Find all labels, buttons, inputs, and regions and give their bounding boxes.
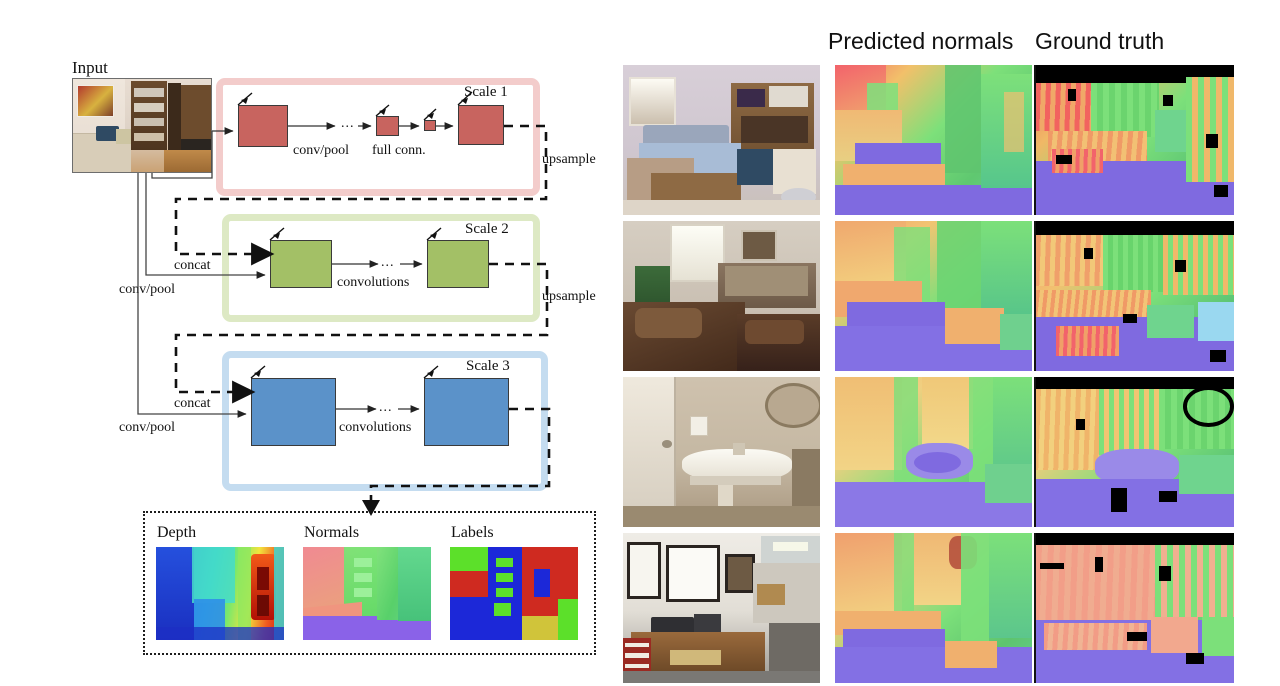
header-ground-truth: Ground truth (1035, 28, 1164, 55)
cell-office-predicted (835, 533, 1032, 683)
cell-office-input (623, 533, 820, 683)
cell-living-room-predicted (835, 221, 1032, 371)
header-predicted-normals: Predicted normals (828, 28, 1013, 55)
cell-office-groundtruth (1034, 533, 1234, 683)
cell-living-room-input (623, 221, 820, 371)
cell-bedroom-predicted (835, 65, 1032, 215)
architecture-diagram: Input Scale 1 conv/pool full conn. ... u… (0, 0, 620, 686)
cell-bathroom-predicted (835, 377, 1032, 527)
results-grid: Predicted normals Ground truth (615, 0, 1280, 686)
cell-bathroom-groundtruth (1034, 377, 1234, 527)
cell-living-room-groundtruth (1034, 221, 1234, 371)
cell-bedroom-input (623, 65, 820, 215)
cell-bathroom-input (623, 377, 820, 527)
diagram-connections (0, 0, 620, 686)
cell-bedroom-groundtruth (1034, 65, 1234, 215)
